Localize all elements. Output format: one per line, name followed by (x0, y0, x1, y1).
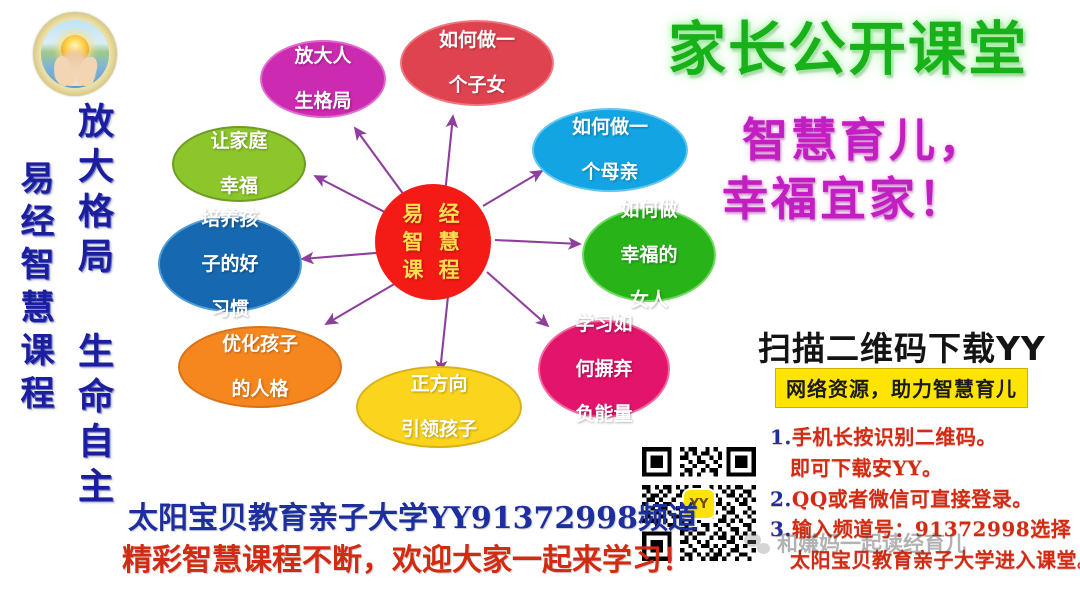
instruction-step-1: 1.手机长按识别二维码。 (770, 421, 997, 450)
step-text: 手机长按识别二维码。 (792, 425, 997, 449)
step-text: 即可下载安YY。 (790, 456, 943, 480)
node-line: 子的好 (197, 253, 262, 275)
node-line: 放大人 (290, 45, 355, 67)
subtitle-line-1: 智慧育儿， (742, 104, 987, 170)
node-line: 个母亲 (568, 161, 652, 183)
center-line-1: 易 经 (402, 201, 463, 226)
node-line: 何摒弃 (571, 358, 636, 380)
hands-icon (52, 46, 98, 86)
node-line: 女人 (616, 289, 681, 311)
node-line: 优化孩子 (218, 333, 302, 355)
node-line: 如何做 (616, 199, 681, 221)
instruction-step-2: 2.QQ或者微信可直接登录。 (770, 483, 1033, 512)
node-line: 的人格 (218, 378, 302, 400)
scan-title: 扫描二维码下载YY (758, 322, 1046, 370)
mindmap-center-node: 易 经 智 慧 课 程 (375, 184, 491, 300)
node-make-family-happy[interactable]: 让家庭 幸福 (172, 126, 306, 202)
node-cultivate-good-habits[interactable]: 培养孩 子的好 习惯 (158, 216, 302, 312)
node-line: 个子女 (435, 74, 519, 96)
node-line: 习惯 (197, 298, 262, 320)
node-line: 学习如 (571, 313, 636, 335)
step-number: 1. (770, 425, 792, 449)
node-learn-drop-negative[interactable]: 学习如 何摒弃 负能量 (538, 320, 670, 418)
node-line: 让家庭 (206, 130, 271, 152)
node-line: 引领孩子 (397, 418, 481, 440)
node-line: 如何做一 (435, 29, 519, 51)
step-text: QQ或者微信可直接登录。 (792, 487, 1033, 511)
node-line: 正方向 (397, 373, 481, 395)
sun-in-hands-logo (33, 12, 117, 96)
node-line: 幸福的 (616, 244, 681, 266)
node-line: 负能量 (571, 403, 636, 425)
subtitle-line-2: 幸福宜家！ (722, 163, 967, 229)
instruction-step-1-cont: 即可下载安YY。 (790, 452, 943, 481)
center-line-3: 课 程 (402, 257, 463, 282)
node-line: 培养孩 (197, 208, 262, 230)
logo-scene (41, 20, 109, 88)
watermark: 和嫌妈一起读经育儿 (744, 528, 966, 558)
bottom-channel-line: 太阳宝贝教育亲子大学YY91372998频道 (128, 493, 698, 537)
bottom-invite-line: 精彩智慧课程不断，欢迎大家一起来学习！ (122, 535, 692, 579)
step-number: 2. (770, 487, 792, 511)
vertical-couplet-right: 放大格局 生命自主 (66, 102, 118, 512)
headline: 家长公开课堂 (668, 20, 1074, 78)
hand-left (50, 54, 76, 88)
poster-canvas: 放大格局 生命自主 易经智慧课程 易 经 (0, 0, 1080, 595)
node-positive-direction[interactable]: 正方向 引领孩子 (356, 366, 522, 448)
node-line: 生格局 (290, 90, 355, 112)
scan-tagline-badge: 网络资源，助力智慧育儿 (775, 368, 1028, 408)
vertical-couplet-left: 易经智慧课程 (10, 160, 59, 418)
node-line: 幸福 (206, 175, 271, 197)
mindmap: 易 经 智 慧 课 程 放大人 生格局 如何做一 个子女 如何做一 个母亲 (150, 8, 730, 468)
node-how-to-be-a-mother[interactable]: 如何做一 个母亲 (532, 108, 688, 192)
center-line-2: 智 慧 (402, 229, 463, 254)
node-how-to-be-happy-woman[interactable]: 如何做 幸福的 女人 (582, 208, 716, 302)
hand-right (74, 54, 100, 88)
node-line: 如何做一 (568, 116, 652, 138)
watermark-text: 和嫌妈一起读经育儿 (777, 528, 966, 558)
node-enlarge-life-pattern[interactable]: 放大人 生格局 (260, 40, 386, 118)
node-how-to-be-a-child[interactable]: 如何做一 个子女 (400, 20, 554, 106)
wechat-icon (744, 532, 770, 554)
node-optimize-personality[interactable]: 优化孩子 的人格 (178, 326, 342, 408)
